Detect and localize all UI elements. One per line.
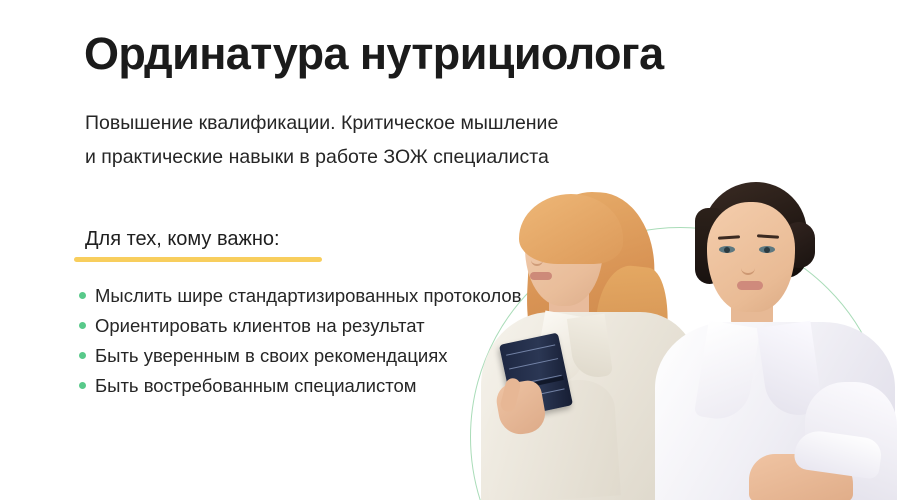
bullet-dot-icon (79, 292, 86, 299)
bullet-dot-icon (79, 322, 86, 329)
kicker-block: Для тех, кому важно: (74, 225, 322, 262)
eye-right (759, 246, 775, 253)
subtitle-line-1: Повышение квалификации. Критическое мышл… (85, 106, 558, 140)
dark-haired-woman-in-white-lab-coat (645, 182, 905, 500)
lips (737, 281, 763, 290)
kicker-underline (74, 257, 322, 262)
page-subtitle: Повышение квалификации. Критическое мышл… (85, 106, 558, 174)
list-item: Быть востребованным специалистом (79, 371, 529, 401)
bullet-dot-icon (79, 382, 86, 389)
kicker-heading: Для тех, кому важно: (74, 225, 322, 253)
page-title: Ординатура нутрициолога (84, 26, 664, 82)
list-item-label: Быть востребованным специалистом (95, 375, 417, 396)
eye-left (719, 246, 735, 253)
text-column: Ординатура нутрициолога Повышение квалиф… (0, 0, 540, 500)
benefits-list: Мыслить шире стандартизированных протоко… (79, 281, 529, 401)
bullet-dot-icon (79, 352, 86, 359)
list-item-label: Ориентировать клиентов на результат (95, 315, 425, 336)
list-item: Ориентировать клиентов на результат (79, 311, 529, 341)
face (707, 202, 795, 312)
list-item-label: Быть уверенным в своих рекомендациях (95, 345, 448, 366)
list-item: Быть уверенным в своих рекомендациях (79, 341, 529, 371)
list-item-label: Мыслить шире стандартизированных протоко… (95, 285, 522, 306)
subtitle-line-2: и практические навыки в работе ЗОЖ специ… (85, 140, 558, 174)
promo-slide: Ординатура нутрициолога Повышение квалиф… (0, 0, 922, 500)
list-item: Мыслить шире стандартизированных протоко… (79, 281, 529, 311)
